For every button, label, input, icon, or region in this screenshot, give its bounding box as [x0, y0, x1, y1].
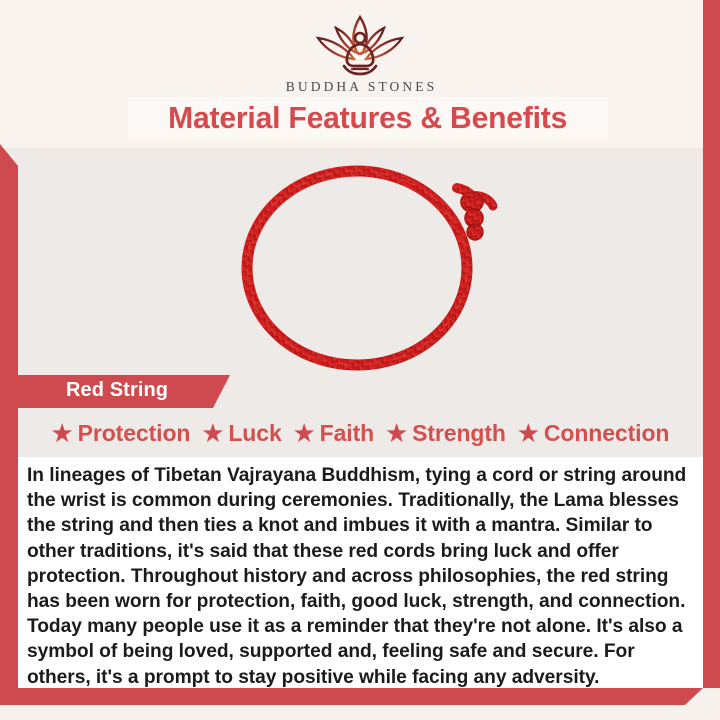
description-text: In lineages of Tibetan Vajrayana Buddhis…	[27, 463, 689, 690]
benefit-label: Protection	[78, 420, 191, 447]
benefit-item: Connection	[518, 420, 670, 447]
star-icon	[518, 423, 539, 444]
benefit-label: Strength	[412, 420, 506, 447]
benefit-item: Strength	[386, 420, 506, 447]
star-icon	[202, 423, 223, 444]
title-banner: Material Features & Benefits	[128, 97, 608, 139]
benefit-label: Connection	[544, 420, 670, 447]
benefit-label: Luck	[228, 420, 281, 447]
product-image-red-string-bracelet	[225, 152, 505, 372]
description-panel: In lineages of Tibetan Vajrayana Buddhis…	[18, 457, 703, 688]
star-icon	[386, 423, 407, 444]
benefit-item: Protection	[52, 420, 191, 447]
page-title: Material Features & Benefits	[169, 100, 568, 136]
star-icon	[294, 423, 315, 444]
benefit-item: Luck	[202, 420, 281, 447]
frame-bar-left	[0, 144, 18, 688]
benefit-item: Faith	[294, 420, 374, 447]
brand-logo: BUDDHA STONES	[0, 14, 720, 95]
lotus-meditation-icon	[302, 14, 418, 76]
benefit-label: Faith	[320, 420, 374, 447]
frame-bar-right	[703, 0, 720, 688]
brand-name: BUDDHA STONES	[0, 79, 720, 95]
benefits-list: Protection Luck Faith Strength Connectio…	[18, 420, 703, 447]
product-label: Red String	[66, 379, 168, 402]
product-infographic: BUDDHA STONES Material Features & Benefi…	[0, 0, 720, 720]
frame-bar-bottom	[0, 688, 703, 705]
star-icon	[52, 423, 73, 444]
